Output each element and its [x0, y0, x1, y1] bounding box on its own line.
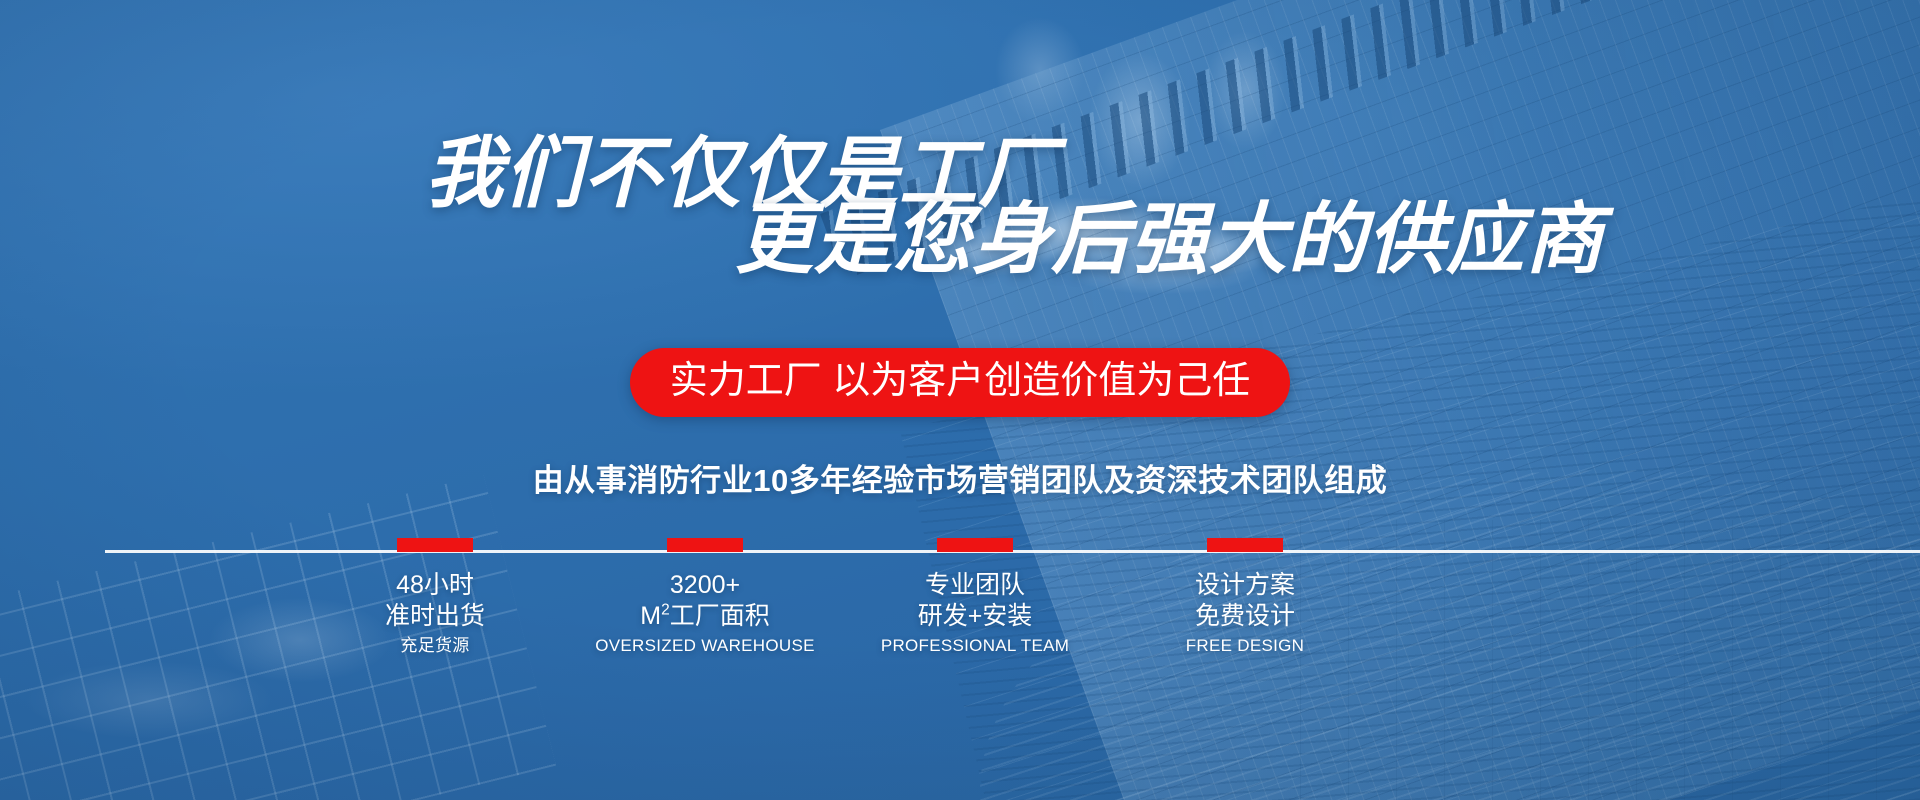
feature-caption: 充足货源	[300, 636, 570, 656]
feature-subheadline: 准时出货	[300, 601, 570, 632]
feature-item-shipping: 48小时 准时出货 充足货源	[300, 538, 570, 656]
feature-text-block: 专业团队 研发+安装 PROFESSIONAL TEAM	[840, 570, 1110, 656]
feature-text-block: 设计方案 免费设计 FREE DESIGN	[1110, 570, 1380, 656]
banner-subtitle: 由从事消防行业10多年经验市场营销团队及资深技术团队组成	[0, 455, 1920, 500]
feature-marker-bar	[1207, 538, 1283, 552]
feature-headline: 专业团队	[840, 570, 1110, 601]
area-unit-suffix: 工厂面积	[670, 602, 770, 630]
feature-caption: FREE DESIGN	[1110, 636, 1380, 656]
feature-headline: 3200+	[570, 570, 840, 601]
feature-caption: PROFESSIONAL TEAM	[840, 636, 1110, 656]
feature-subheadline: 免费设计	[1110, 601, 1380, 632]
feature-headline: 设计方案	[1110, 570, 1380, 601]
feature-text-block: 48小时 准时出货 充足货源	[300, 570, 570, 656]
feature-item-warehouse: 3200+ M2工厂面积 OVERSIZED WAREHOUSE	[570, 538, 840, 656]
feature-item-design: 设计方案 免费设计 FREE DESIGN	[1110, 538, 1380, 656]
feature-caption: OVERSIZED WAREHOUSE	[570, 636, 840, 656]
feature-marker-bar	[937, 538, 1013, 552]
feature-subheadline: M2工厂面积	[570, 601, 840, 632]
feature-marker-bar	[667, 538, 743, 552]
feature-highlights: 48小时 准时出货 充足货源 3200+ M2工厂面积 OVERSIZED WA…	[300, 538, 1380, 656]
banner-content: 我们不仅仅是工厂 更是您身后强大的供应商 实力工厂 以为客户创造价值为己任 由从…	[0, 0, 1920, 800]
feature-headline: 48小时	[300, 570, 570, 601]
tagline-badge: 实力工厂 以为客户创造价值为己任	[630, 348, 1291, 417]
area-unit-superscript: 2	[661, 601, 670, 618]
feature-item-team: 专业团队 研发+安装 PROFESSIONAL TEAM	[840, 538, 1110, 656]
tagline-badge-row: 实力工厂 以为客户创造价值为己任	[0, 348, 1920, 417]
headline-line-2: 更是您身后强大的供应商	[735, 200, 1920, 278]
hero-banner: 我们不仅仅是工厂 更是您身后强大的供应商 实力工厂 以为客户创造价值为己任 由从…	[0, 0, 1920, 800]
feature-marker-bar	[397, 538, 473, 552]
feature-text-block: 3200+ M2工厂面积 OVERSIZED WAREHOUSE	[570, 570, 840, 656]
area-unit-prefix: M	[640, 602, 661, 630]
feature-subheadline: 研发+安装	[840, 601, 1110, 632]
